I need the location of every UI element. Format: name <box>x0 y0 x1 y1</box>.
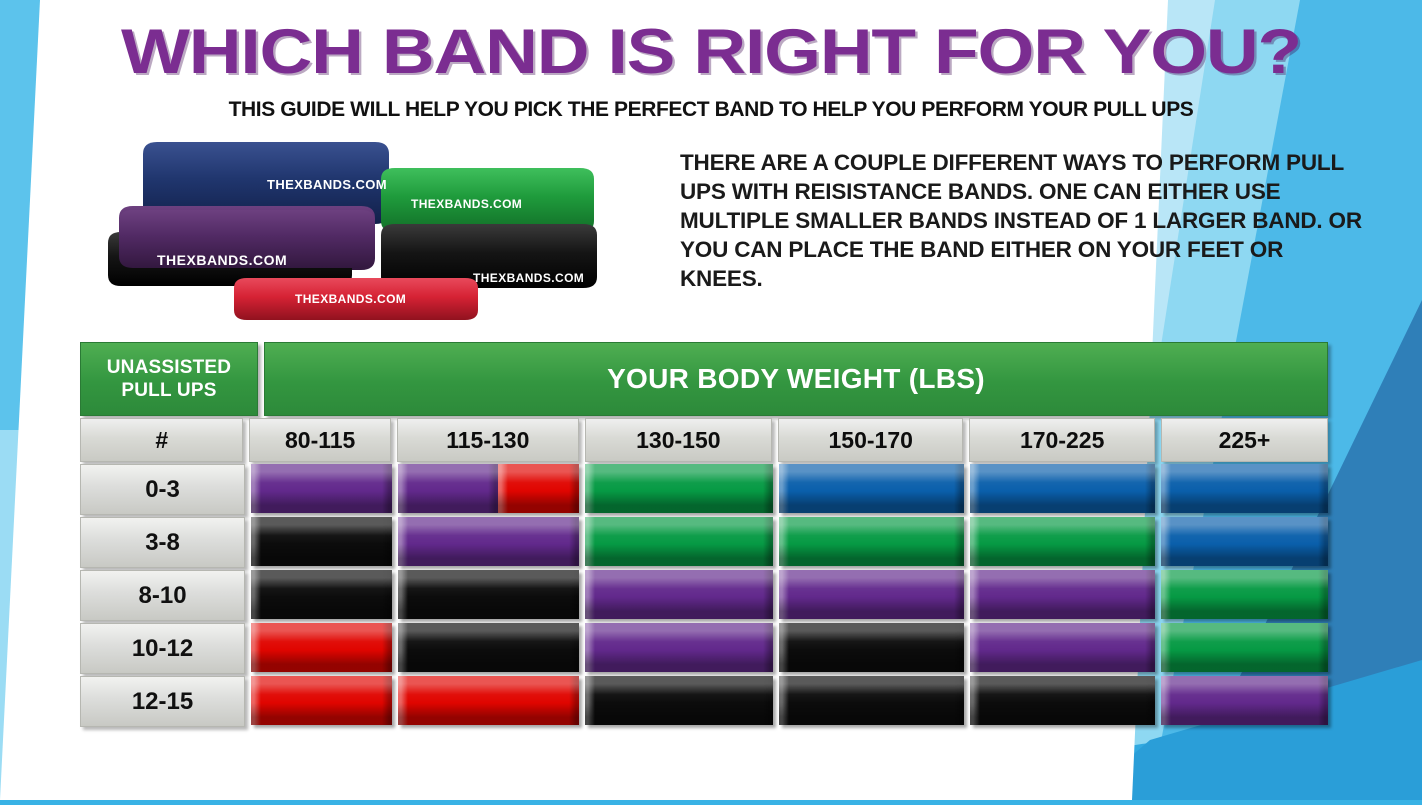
band-swatch-blue <box>1161 517 1328 566</box>
band-swatch-black <box>251 570 392 619</box>
resistance-bands-photo: THEXBANDS.COM THEXBANDS.COM THEXBANDS.CO… <box>95 140 665 330</box>
row-label-0-3: 0-3 <box>80 464 245 515</box>
band-cell-r3-c4[interactable] <box>970 623 1155 672</box>
band-cell-r1-c2[interactable] <box>585 517 772 566</box>
table-header-row: UNASSISTED PULL UPS YOUR BODY WEIGHT (LB… <box>80 342 1328 414</box>
band-cell-r2-c1[interactable] <box>398 570 580 619</box>
band-brand-label: THEXBANDS.COM <box>473 271 584 285</box>
page-subtitle: THIS GUIDE WILL HELP YOU PICK THE PERFEC… <box>0 98 1422 122</box>
band-swatch-purple <box>970 570 1155 619</box>
band-swatch-red <box>498 464 580 513</box>
row-label-12-15: 12-15 <box>80 676 245 727</box>
band-swatch-black <box>779 623 964 672</box>
band-cell-r3-c0[interactable] <box>251 623 392 672</box>
band-swatch-green <box>1161 623 1328 672</box>
band-swatch-green <box>970 517 1155 566</box>
band-cell-r4-c4[interactable] <box>970 676 1155 725</box>
band-cell-r3-c2[interactable] <box>585 623 772 672</box>
band-swatch-black <box>398 623 580 672</box>
band-brand-label: THEXBANDS.COM <box>157 252 287 268</box>
corner-header-line1: UNASSISTED <box>107 357 231 378</box>
band-cell-r3-c5[interactable] <box>1161 623 1328 672</box>
band-swatch-black <box>779 676 964 725</box>
band-swatch-green <box>585 464 772 513</box>
row-label-8-10: 8-10 <box>80 570 245 621</box>
band-cell-r4-c1[interactable] <box>398 676 580 725</box>
band-cell-r2-c5[interactable] <box>1161 570 1328 619</box>
band-swatch-purple <box>398 464 498 513</box>
band-swatch-purple <box>1161 676 1328 725</box>
band-cell-r0-c4[interactable] <box>970 464 1155 513</box>
band-swatch-blue <box>970 464 1155 513</box>
band-cell-r1-c1[interactable] <box>398 517 580 566</box>
bands-illustration: THEXBANDS.COM THEXBANDS.COM THEXBANDS.CO… <box>95 140 665 330</box>
band-cell-r0-c0[interactable] <box>251 464 392 513</box>
band-swatch-blue <box>1161 464 1328 513</box>
band-swatch-purple <box>585 623 772 672</box>
corner-header-unassisted-pull-ups: UNASSISTED PULL UPS <box>80 342 258 416</box>
band-cell-r0-c5[interactable] <box>1161 464 1328 513</box>
band-swatch-green <box>585 517 772 566</box>
table-row: 12-15 <box>80 676 1328 725</box>
band-swatch-red <box>251 623 392 672</box>
band-swatch-purple <box>779 570 964 619</box>
band-swatch-black <box>398 570 580 619</box>
table-body: 0-33-88-1010-1212-15 <box>80 464 1328 725</box>
band-swatch-green <box>1161 570 1328 619</box>
band-cell-r0-c1[interactable] <box>398 464 580 513</box>
band-cell-r1-c3[interactable] <box>779 517 964 566</box>
column-header-130-150: 130-150 <box>585 418 772 462</box>
band-swatch-purple <box>398 517 580 566</box>
band-swatch-black <box>970 676 1155 725</box>
band-cell-r4-c2[interactable] <box>585 676 772 725</box>
table-row: 3-8 <box>80 517 1328 566</box>
band-swatch-purple <box>251 464 392 513</box>
band-brand-label: THEXBANDS.COM <box>295 292 406 306</box>
column-header-225+: 225+ <box>1161 418 1328 462</box>
band-selection-table: UNASSISTED PULL UPS YOUR BODY WEIGHT (LB… <box>80 342 1328 729</box>
band-swatch-black <box>251 517 392 566</box>
row-label-3-8: 3-8 <box>80 517 245 568</box>
band-cell-r0-c3[interactable] <box>779 464 964 513</box>
band-cell-r2-c2[interactable] <box>585 570 772 619</box>
band-swatch-blue <box>779 464 964 513</box>
band-swatch-purple <box>585 570 772 619</box>
band-swatch-black <box>585 676 772 725</box>
band-swatch-red <box>398 676 580 725</box>
intro-paragraph: THERE ARE A COUPLE DIFFERENT WAYS TO PER… <box>680 148 1370 293</box>
table-row: 10-12 <box>80 623 1328 672</box>
column-header-row: # 80-115115-130130-150150-170170-225225+ <box>80 418 1328 460</box>
band-cell-r2-c4[interactable] <box>970 570 1155 619</box>
band-cell-r4-c5[interactable] <box>1161 676 1328 725</box>
band-swatch-purple <box>970 623 1155 672</box>
band-cell-r4-c3[interactable] <box>779 676 964 725</box>
main-header-bodyweight: YOUR BODY WEIGHT (LBS) <box>264 342 1328 416</box>
column-header-170-225: 170-225 <box>969 418 1154 462</box>
band-cell-r2-c3[interactable] <box>779 570 964 619</box>
table-row: 0-3 <box>80 464 1328 513</box>
band-cell-r4-c0[interactable] <box>251 676 392 725</box>
column-header-150-170: 150-170 <box>778 418 963 462</box>
band-cell-r1-c4[interactable] <box>970 517 1155 566</box>
band-brand-label: THEXBANDS.COM <box>267 177 387 192</box>
band-cell-r2-c0[interactable] <box>251 570 392 619</box>
row-label-10-12: 10-12 <box>80 623 245 674</box>
band-cell-r3-c1[interactable] <box>398 623 580 672</box>
band-cell-r1-c5[interactable] <box>1161 517 1328 566</box>
band-cell-r3-c3[interactable] <box>779 623 964 672</box>
column-header-80-115: 80-115 <box>249 418 390 462</box>
band-swatch-green <box>779 517 964 566</box>
band-cell-r1-c0[interactable] <box>251 517 392 566</box>
column-header-115-130: 115-130 <box>397 418 579 462</box>
band-cell-r0-c2[interactable] <box>585 464 772 513</box>
table-row: 8-10 <box>80 570 1328 619</box>
corner-header-line2: PULL UPS <box>121 380 216 401</box>
band-brand-label: THEXBANDS.COM <box>411 197 522 211</box>
page-title: WHICH BAND IS RIGHT FOR YOU? <box>0 16 1422 88</box>
column-header-symbol: # <box>80 418 243 462</box>
band-swatch-red <box>251 676 392 725</box>
